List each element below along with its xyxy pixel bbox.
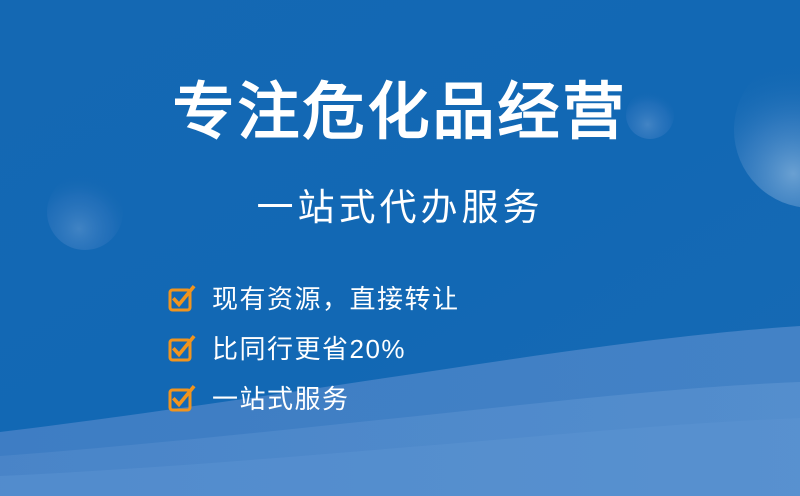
list-item: 现有资源，直接转让 xyxy=(168,274,588,323)
list-item: 比同行更省20% xyxy=(168,324,588,373)
page-subtitle: 一站式代办服务 xyxy=(0,188,800,229)
checkbox-checked-icon xyxy=(168,336,194,362)
promo-banner: 专注危化品经营 一站式代办服务 现有资源，直接转让 xyxy=(0,0,800,496)
page-title: 专注危化品经营 xyxy=(0,82,800,144)
list-item: 一站式服务 xyxy=(168,374,588,423)
list-item-label: 现有资源，直接转让 xyxy=(212,286,460,312)
feature-list: 现有资源，直接转让 比同行更省20% 一站式 xyxy=(168,274,588,424)
list-item-label: 比同行更省20% xyxy=(212,336,406,362)
checkbox-checked-icon xyxy=(168,386,194,412)
checkbox-checked-icon xyxy=(168,286,194,312)
banner-content: 专注危化品经营 一站式代办服务 现有资源，直接转让 xyxy=(0,0,800,496)
list-item-label: 一站式服务 xyxy=(212,386,350,412)
